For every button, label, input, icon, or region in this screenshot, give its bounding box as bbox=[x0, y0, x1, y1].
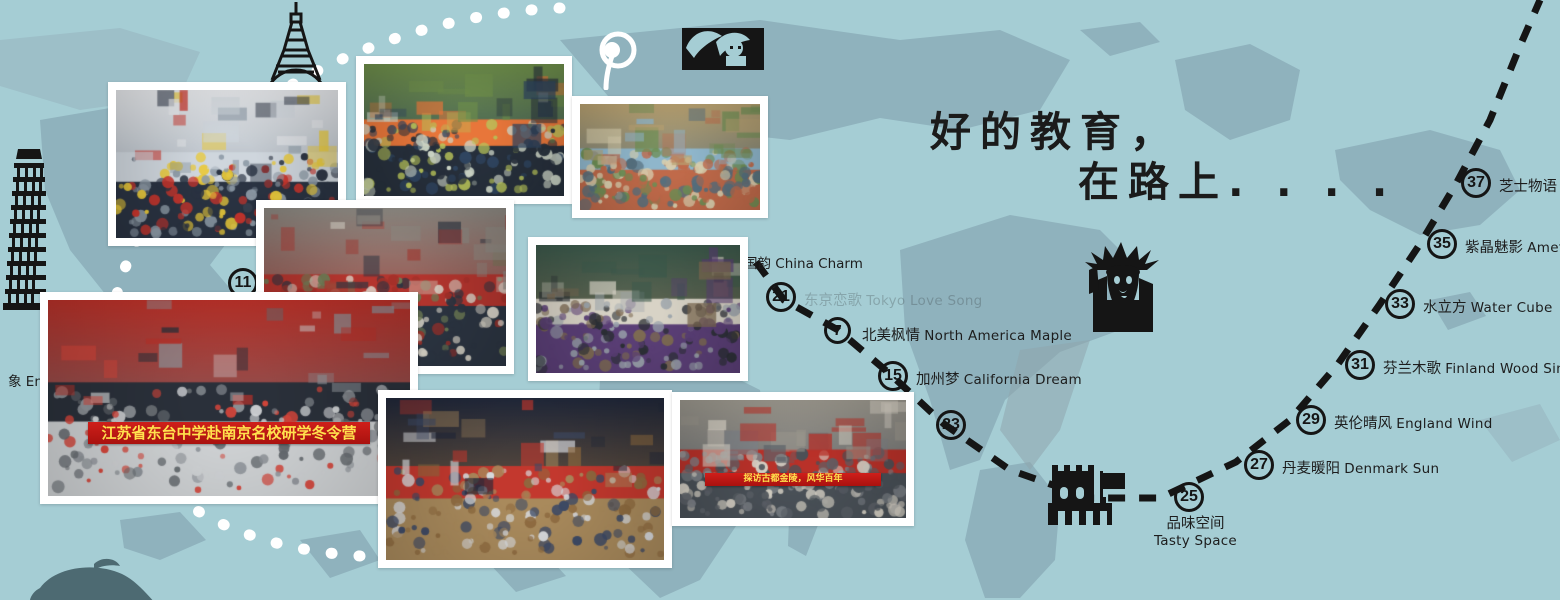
photo-lecture-hall-speaker bbox=[528, 237, 748, 381]
route-stop-7[interactable]: 7 bbox=[824, 317, 851, 344]
route-stop-27[interactable]: 27 bbox=[1244, 450, 1274, 480]
photo-bitmap bbox=[364, 64, 564, 196]
whale-icon bbox=[10, 556, 160, 600]
stop-label-cn: 东京恋歌 bbox=[804, 293, 862, 309]
route-stop-label-21: 东京恋歌 Tokyo Love Song bbox=[804, 289, 983, 310]
photo-bitmap bbox=[386, 398, 664, 560]
route-stop-label-15: 加州梦 California Dream bbox=[916, 368, 1082, 389]
poster-canvas: 好的教育， 在路上. . . . 国韵 China Charm象 En 1121… bbox=[0, 0, 1560, 600]
route-stop-label-33: 水立方 Water Cube bbox=[1423, 296, 1553, 317]
photo-bitmap bbox=[680, 400, 906, 518]
route-stop-25[interactable]: 25 bbox=[1174, 482, 1204, 512]
clipped-label-1: 象 En bbox=[8, 370, 43, 390]
photo-banner-text: 探访古都金陵，风华百年 bbox=[705, 473, 881, 486]
route-stop-15[interactable]: 15 bbox=[878, 361, 908, 391]
stop-label-en: Tasty Space bbox=[1154, 533, 1237, 549]
route-stop-label-37: 芝士物语 Cheese Story bbox=[1499, 175, 1560, 196]
route-stop-label-25: 品味空间Tasty Space bbox=[1154, 516, 1237, 550]
stop-label-en: Amethyst Ch bbox=[1527, 240, 1560, 256]
stop-label-cn: 北美枫情 bbox=[862, 328, 920, 344]
stop-label-cn: 芝士物语 bbox=[1499, 179, 1557, 195]
castle-fortress-icon bbox=[1048, 455, 1126, 525]
route-stop-37[interactable]: 37 bbox=[1461, 168, 1491, 198]
map-pin-balloon-icon bbox=[592, 28, 640, 90]
photo-bitmap bbox=[580, 104, 760, 210]
stop-label-en: Denmark Sun bbox=[1344, 461, 1439, 477]
photo-bitmap bbox=[48, 300, 410, 496]
route-stop-35[interactable]: 35 bbox=[1427, 229, 1457, 259]
photo-auditorium-audience bbox=[378, 390, 672, 568]
photo-memorial-steps-group: 探访古都金陵，风华百年 bbox=[672, 392, 914, 526]
stop-label-en: Finland Wood Singing bbox=[1445, 361, 1560, 377]
photo-postcard-on-straw bbox=[572, 96, 768, 218]
eiffel-tower-icon bbox=[258, 0, 334, 92]
statue-of-liberty-icon bbox=[1083, 240, 1165, 332]
photo-banner-text: 江苏省东台中学赴南京名校研学冬令营 bbox=[88, 422, 370, 444]
photo-school-group-photo: 江苏省东台中学赴南京名校研学冬令营 bbox=[40, 292, 418, 504]
route-stop-label-7: 北美枫情 North America Maple bbox=[862, 324, 1072, 345]
stop-label-cn: 品味空间 bbox=[1167, 516, 1225, 532]
stop-label-en: Tokyo Love Song bbox=[866, 293, 982, 309]
stop-label-cn: 丹麦暖阳 bbox=[1282, 461, 1340, 477]
stop-label-en: North America Maple bbox=[924, 328, 1072, 344]
photo-image bbox=[536, 245, 740, 373]
route-stop-31[interactable]: 31 bbox=[1345, 350, 1375, 380]
photo-image: 探访古都金陵，风华百年 bbox=[680, 400, 906, 518]
route-stop-label-29: 英伦晴风 England Wind bbox=[1334, 412, 1493, 433]
opera-house-icon bbox=[682, 18, 764, 70]
stop-label-en: England Wind bbox=[1396, 416, 1492, 432]
stop-label-en: California Dream bbox=[964, 372, 1082, 388]
route-stop-33[interactable]: 33 bbox=[1385, 289, 1415, 319]
photo-bitmap bbox=[536, 245, 740, 373]
headline-line-2: 在路上. . . . bbox=[1078, 148, 1396, 208]
photo-image bbox=[580, 104, 760, 210]
stop-label-en: Water Cube bbox=[1471, 300, 1553, 316]
photo-image bbox=[386, 398, 664, 560]
route-stop-21[interactable]: 21 bbox=[766, 282, 796, 312]
route-stop-23[interactable]: 23 bbox=[936, 410, 966, 440]
stop-label-cn: 加州梦 bbox=[916, 372, 960, 388]
stop-label-cn: 紫晶魅影 bbox=[1465, 240, 1523, 256]
route-stop-29[interactable]: 29 bbox=[1296, 405, 1326, 435]
route-stop-label-35: 紫晶魅影 Amethyst Ch bbox=[1465, 236, 1560, 257]
photo-image: 江苏省东台中学赴南京名校研学冬令营 bbox=[48, 300, 410, 496]
photo-outdoor-workshop bbox=[356, 56, 572, 204]
photo-image bbox=[364, 64, 564, 196]
stop-label-cn: 水立方 bbox=[1423, 300, 1467, 316]
stop-label-cn: 英伦晴风 bbox=[1334, 416, 1392, 432]
route-stop-label-27: 丹麦暖阳 Denmark Sun bbox=[1282, 457, 1439, 478]
route-stop-label-31: 芬兰木歌 Finland Wood Singing bbox=[1383, 357, 1560, 378]
clipped-label-0: 国韵 China Charm bbox=[744, 252, 863, 272]
stop-label-cn: 芬兰木歌 bbox=[1383, 361, 1441, 377]
